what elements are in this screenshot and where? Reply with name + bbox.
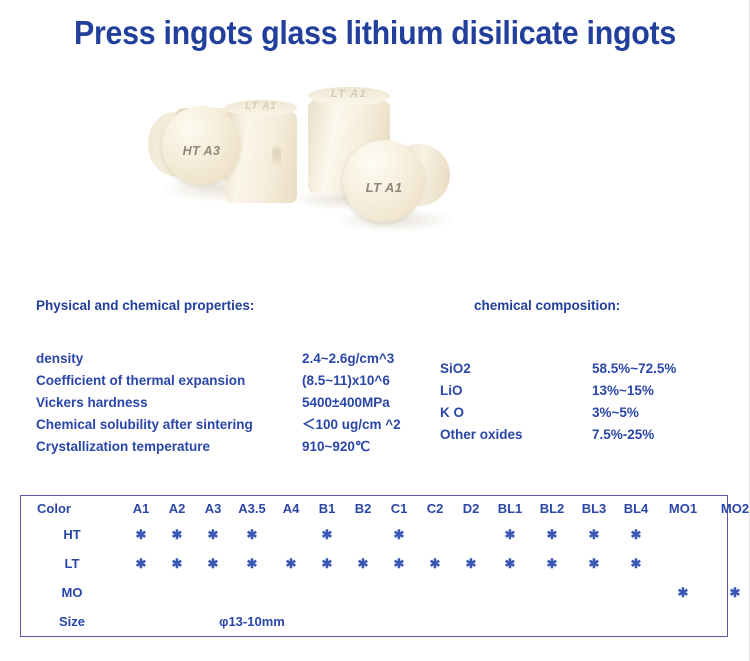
color-column-header: BL4 (615, 496, 657, 520)
asterisk-icon: ✱ (505, 556, 516, 571)
asterisk-icon: ✱ (631, 556, 642, 571)
asterisk-icon: ✱ (466, 556, 477, 571)
color-column-header: D2 (453, 496, 489, 520)
row-label: MO (21, 578, 123, 607)
spec-row: Coefficient of thermal expansion (8.5~11… (36, 372, 401, 389)
availability-mark: ✱ (489, 520, 531, 549)
asterisk-icon: ✱ (322, 527, 333, 542)
physical-properties-list: density 2.4~2.6g/cm^3 Coefficient of the… (36, 350, 401, 460)
asterisk-icon: ✱ (136, 527, 147, 542)
page-root: Press ingots glass lithium disilicate in… (0, 0, 750, 661)
table-row: HT✱✱✱✱✱✱✱✱✱✱ (21, 520, 750, 549)
availability-empty (345, 520, 381, 549)
size-row-label: Size (21, 607, 123, 636)
spec-row: SiO2 58.5%~72.5% (440, 360, 676, 377)
compound-value: 3%~5% (592, 404, 639, 421)
spec-row: LiO 13%~15% (440, 382, 676, 399)
row-label: LT (21, 549, 123, 578)
spec-row: Other oxides 7.5%-25% (440, 426, 676, 443)
asterisk-icon: ✱ (322, 556, 333, 571)
asterisk-icon: ✱ (631, 527, 642, 542)
availability-mark: ✱ (195, 520, 231, 549)
availability-empty (231, 578, 273, 607)
asterisk-icon: ✱ (208, 527, 219, 542)
availability-mark: ✱ (573, 549, 615, 578)
spec-row: density 2.4~2.6g/cm^3 (36, 350, 401, 367)
color-table-body: HT✱✱✱✱✱✱✱✱✱✱LT✱✱✱✱✱✱✱✱✱✱✱✱✱✱MO✱✱Sizeφ13-… (21, 520, 750, 636)
availability-empty (273, 520, 309, 549)
color-column-header: MO1 (657, 496, 709, 520)
table-row: MO✱✱ (21, 578, 750, 607)
availability-mark: ✱ (615, 549, 657, 578)
color-column-header: MO2 (709, 496, 750, 520)
spec-value: 5400±400MPa (302, 394, 390, 411)
color-column-header: A4 (273, 496, 309, 520)
availability-mark: ✱ (381, 520, 417, 549)
asterisk-icon: ✱ (547, 556, 558, 571)
asterisk-icon: ✱ (358, 556, 369, 571)
color-column-header: BL2 (531, 496, 573, 520)
color-column-header: A3.5 (231, 496, 273, 520)
availability-empty (453, 520, 489, 549)
availability-empty (453, 578, 489, 607)
color-column-header: A1 (123, 496, 159, 520)
spec-key: Coefficient of thermal expansion (36, 372, 302, 389)
asterisk-icon: ✱ (247, 556, 258, 571)
compound-value: 13%~15% (592, 382, 654, 399)
compound-name: Other oxides (440, 426, 592, 443)
availability-mark: ✱ (531, 549, 573, 578)
ingot-back-top-label: LT A1 (308, 88, 390, 100)
availability-mark: ✱ (615, 520, 657, 549)
color-column-header: BL3 (573, 496, 615, 520)
availability-mark: ✱ (159, 520, 195, 549)
product-photo: LT A1 LT A1 HT A3 LT A1 (120, 88, 520, 268)
ingot-lt-a1-label: LT A1 (343, 180, 425, 195)
availability-empty (531, 578, 573, 607)
availability-empty (657, 520, 709, 549)
availability-empty (657, 549, 709, 578)
availability-mark: ✱ (159, 549, 195, 578)
spec-row: Chemical solubility after sintering ＜100… (36, 416, 401, 433)
ingot-front-right: LT A1 (343, 140, 425, 222)
availability-empty (615, 578, 657, 607)
spec-value: 910~920℃ (302, 438, 370, 455)
color-column-header: BL1 (489, 496, 531, 520)
asterisk-icon: ✱ (589, 527, 600, 542)
compound-value: 7.5%-25% (592, 426, 654, 443)
availability-mark: ✱ (573, 520, 615, 549)
asterisk-icon: ✱ (547, 527, 558, 542)
availability-mark: ✱ (531, 520, 573, 549)
color-column-header: A3 (195, 496, 231, 520)
ingot-front-left: HT A3 (162, 106, 241, 185)
physical-properties-heading: Physical and chemical properties: (36, 298, 254, 313)
color-column-header: C2 (417, 496, 453, 520)
asterisk-icon: ✱ (430, 556, 441, 571)
spec-value: 2.4~2.6g/cm^3 (302, 350, 394, 367)
availability-mark: ✱ (657, 578, 709, 607)
size-row-filler (381, 607, 750, 636)
availability-mark: ✱ (453, 549, 489, 578)
availability-empty (573, 578, 615, 607)
chemical-composition-heading: chemical composition: (474, 298, 620, 313)
availability-mark: ✱ (123, 520, 159, 549)
compound-value: 58.5%~72.5% (592, 360, 676, 377)
availability-mark: ✱ (381, 549, 417, 578)
availability-mark: ✱ (345, 549, 381, 578)
asterisk-icon: ✱ (286, 556, 297, 571)
asterisk-icon: ✱ (589, 556, 600, 571)
availability-empty (417, 520, 453, 549)
spec-key: Crystallization temperature (36, 438, 302, 455)
availability-mark: ✱ (489, 549, 531, 578)
ingot-ht-a3-label: HT A3 (162, 144, 241, 158)
spec-key: density (36, 350, 302, 367)
availability-mark: ✱ (231, 549, 273, 578)
asterisk-icon: ✱ (730, 585, 741, 600)
size-value: φ13-10mm (123, 607, 381, 636)
availability-mark: ✱ (273, 549, 309, 578)
color-column-header: B1 (309, 496, 345, 520)
spec-key: Vickers hardness (36, 394, 302, 411)
asterisk-icon: ✱ (678, 585, 689, 600)
compound-name: LiO (440, 382, 592, 399)
availability-empty (345, 578, 381, 607)
color-column-header: B2 (345, 496, 381, 520)
spec-value: ＜100 ug/cm ^2 (302, 416, 401, 433)
availability-empty (709, 520, 750, 549)
asterisk-icon: ✱ (208, 556, 219, 571)
availability-mark: ✱ (231, 520, 273, 549)
availability-mark: ✱ (309, 549, 345, 578)
spec-value: (8.5~11)x10^6 (302, 372, 390, 389)
compound-name: SiO2 (440, 360, 592, 377)
spec-row: K O 3%~5% (440, 404, 676, 421)
color-availability-table: Color A1A2A3A3.5A4B1B2C1C2D2BL1BL2BL3BL4… (20, 495, 728, 637)
asterisk-icon: ✱ (172, 527, 183, 542)
asterisk-icon: ✱ (394, 527, 405, 542)
availability-empty (309, 578, 345, 607)
spec-key: Chemical solubility after sintering (36, 416, 302, 433)
color-column-header: C1 (381, 496, 417, 520)
asterisk-icon: ✱ (136, 556, 147, 571)
asterisk-icon: ✱ (172, 556, 183, 571)
asterisk-icon: ✱ (505, 527, 516, 542)
table-header-row: Color A1A2A3A3.5A4B1B2C1C2D2BL1BL2BL3BL4… (21, 496, 750, 520)
ingot-middle-top-label: LT A1 (225, 101, 297, 112)
availability-mark: ✱ (195, 549, 231, 578)
availability-empty (159, 578, 195, 607)
color-header-cell: Color (21, 496, 123, 520)
color-column-header: A2 (159, 496, 195, 520)
page-title: Press ingots glass lithium disilicate in… (30, 14, 720, 52)
spec-row: Crystallization temperature 910~920℃ (36, 438, 401, 455)
color-table-head: Color A1A2A3A3.5A4B1B2C1C2D2BL1BL2BL3BL4… (21, 496, 750, 520)
table-row: LT✱✱✱✱✱✱✱✱✱✱✱✱✱✱ (21, 549, 750, 578)
availability-mark: ✱ (417, 549, 453, 578)
ingot-surface-speckle (272, 146, 281, 172)
asterisk-icon: ✱ (394, 556, 405, 571)
availability-mark: ✱ (309, 520, 345, 549)
compound-name: K O (440, 404, 592, 421)
chemical-composition-list: SiO2 58.5%~72.5% LiO 13%~15% K O 3%~5% O… (440, 360, 676, 448)
availability-empty (273, 578, 309, 607)
color-table-grid: Color A1A2A3A3.5A4B1B2C1C2D2BL1BL2BL3BL4… (21, 496, 750, 636)
availability-mark: ✱ (709, 578, 750, 607)
size-row: Sizeφ13-10mm (21, 607, 750, 636)
availability-empty (195, 578, 231, 607)
availability-empty (417, 578, 453, 607)
availability-empty (381, 578, 417, 607)
row-label: HT (21, 520, 123, 549)
availability-empty (123, 578, 159, 607)
availability-mark: ✱ (123, 549, 159, 578)
availability-empty (709, 549, 750, 578)
asterisk-icon: ✱ (247, 527, 258, 542)
spec-row: Vickers hardness 5400±400MPa (36, 394, 401, 411)
availability-empty (489, 578, 531, 607)
